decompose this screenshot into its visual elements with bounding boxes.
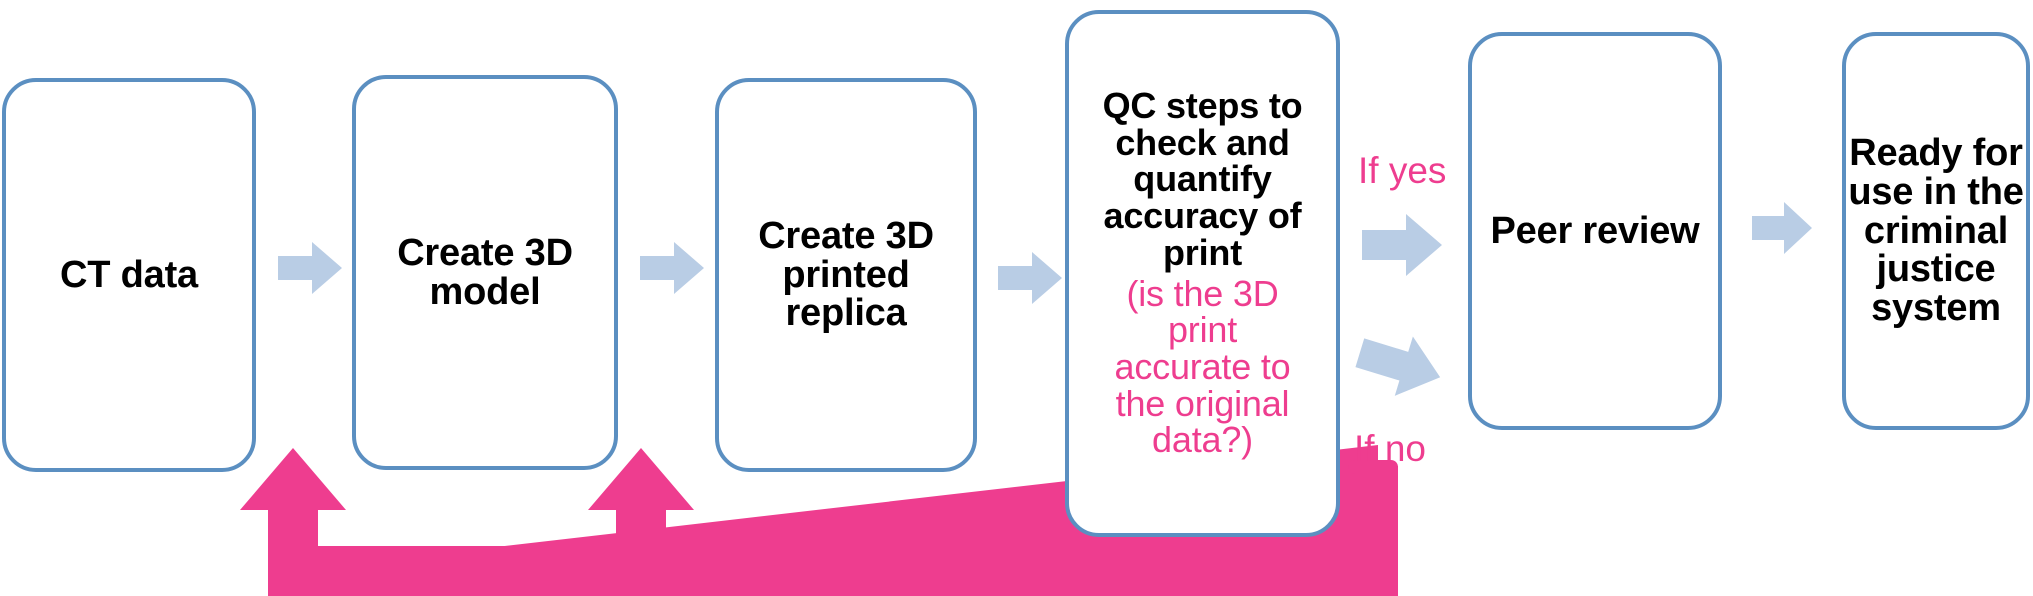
node-qc-steps[interactable]: QC steps to check and quantify accuracy … [1065, 10, 1340, 537]
replica-to-qc-arrow [998, 250, 1062, 306]
node-peer-review[interactable]: Peer review [1468, 32, 1722, 430]
connector-label-if-no: If no [1354, 430, 1426, 467]
node-qc-steps-question: (is the 3D print accurate to the origina… [1115, 276, 1291, 460]
node-ready-for-use-label: Ready for use in the criminal justice sy… [1848, 134, 2023, 328]
node-ct-data-label: CT data [60, 256, 198, 295]
peer-to-ready-arrow [1752, 200, 1812, 256]
node-create-model[interactable]: Create 3D model [352, 75, 618, 470]
ct-to-model-arrow [278, 240, 342, 296]
model-to-replica-arrow [640, 240, 704, 296]
node-create-replica-label: Create 3D printed replica [758, 217, 934, 333]
flowchart-canvas: CT data Create 3D model Create 3D printe… [0, 0, 2033, 596]
node-ct-data[interactable]: CT data [2, 78, 256, 472]
node-ready-for-use[interactable]: Ready for use in the criminal justice sy… [1842, 32, 2030, 430]
node-create-model-label: Create 3D model [397, 234, 573, 312]
node-peer-review-label: Peer review [1490, 212, 1699, 251]
node-create-replica[interactable]: Create 3D printed replica [715, 78, 977, 472]
connector-label-if-yes: If yes [1358, 152, 1446, 189]
node-qc-steps-label: QC steps to check and quantify accuracy … [1103, 88, 1303, 272]
qc-to-peer-review-arrow [1362, 212, 1442, 278]
